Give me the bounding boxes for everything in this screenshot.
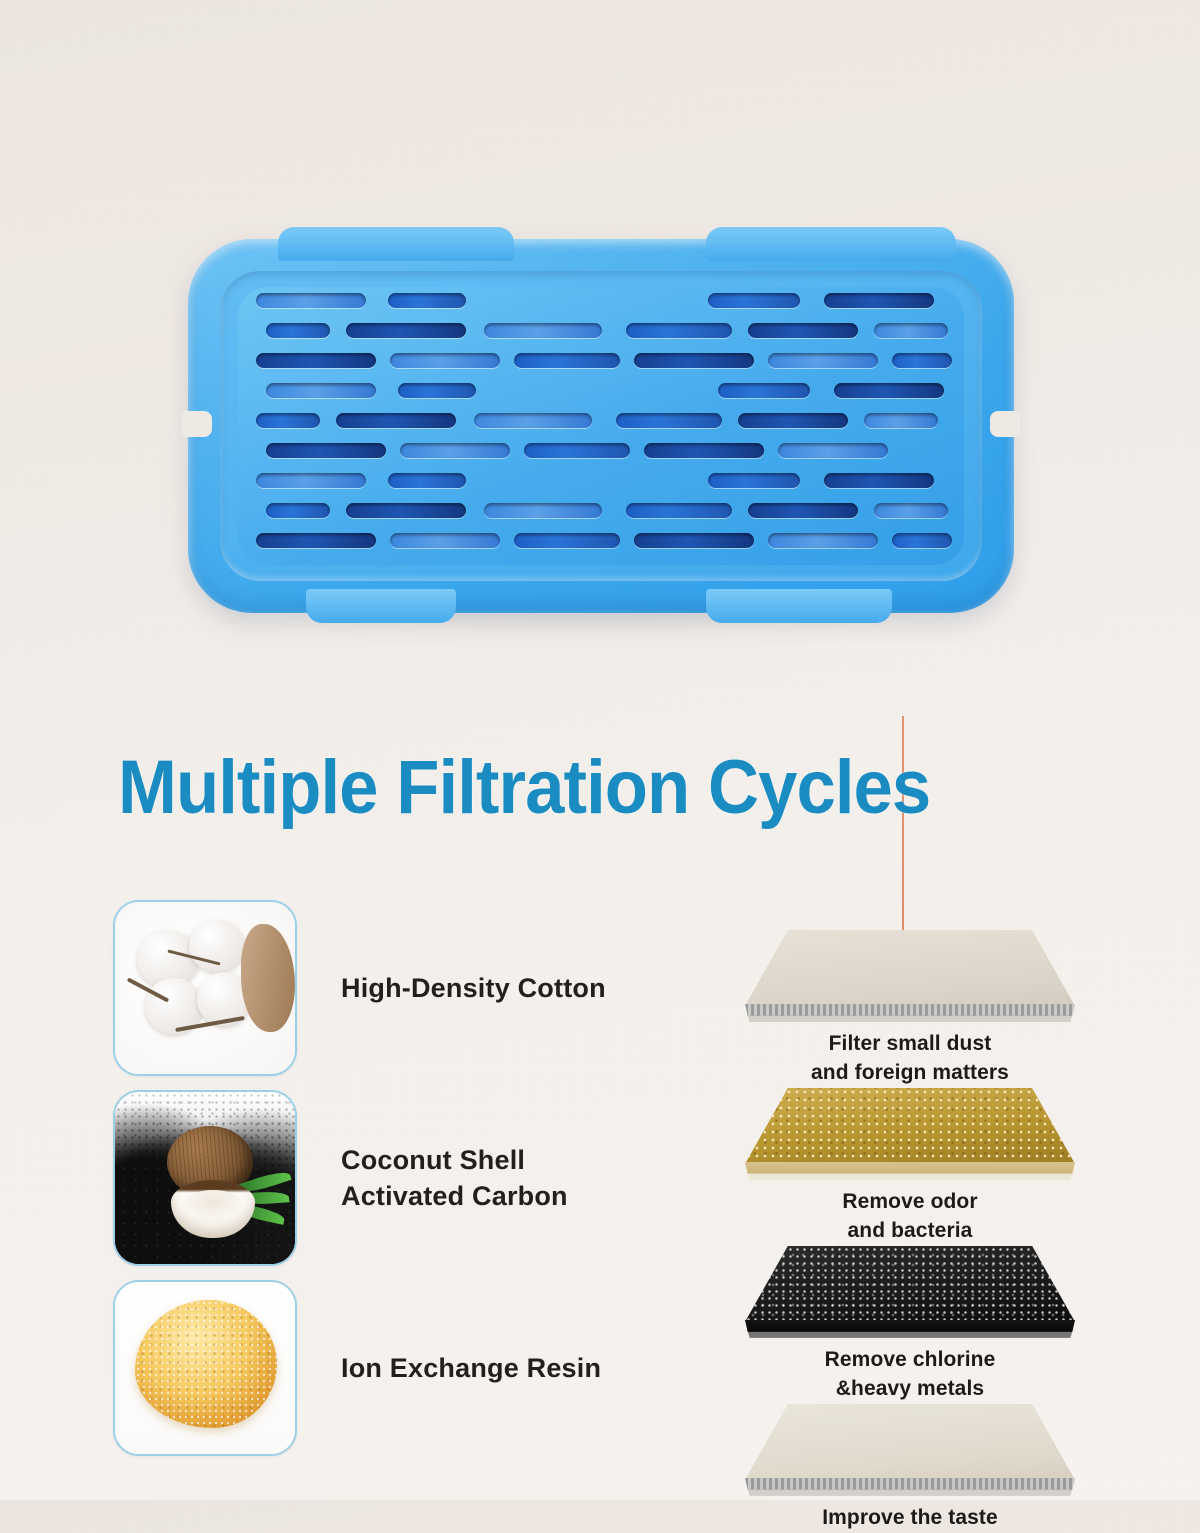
layer-caption-line2: and foreign matters [700, 1059, 1120, 1088]
cartridge-slot [514, 353, 620, 368]
layer-slab-taste [745, 1404, 1075, 1496]
cartridge-slot [474, 413, 592, 428]
layer-slab-cap [745, 1015, 1075, 1022]
layer-slab-edge [745, 1478, 1075, 1490]
cartridge-slot [824, 293, 934, 308]
cartridge-slot [484, 503, 602, 518]
cartridge-slot [768, 533, 878, 548]
layer-slab-resin [745, 1088, 1075, 1180]
layer-caption-line2: and bacteria [700, 1217, 1120, 1246]
activated-carbon-photo [115, 1092, 295, 1264]
cartridge-slot [708, 473, 800, 488]
cartridge-slot [524, 443, 630, 458]
cartridge-slot [892, 353, 952, 368]
cartridge-slot [256, 533, 376, 548]
cartridge-slot [390, 533, 500, 548]
layer-block-cotton: Filter small dust and foreign matters [700, 930, 1120, 1088]
layer-slab-carbon [745, 1246, 1075, 1338]
product-image-filter-cartridge [186, 225, 1016, 635]
material-row-cotton: High-Density Cotton [113, 898, 673, 1078]
cartridge-slot [256, 413, 320, 428]
cartridge-notch-right [990, 411, 1020, 437]
cartridge-slot [266, 383, 376, 398]
cartridge-bottom-tab-right [706, 589, 892, 623]
cartridge-slot [388, 473, 466, 488]
cartridge-slot [266, 443, 386, 458]
cartridge-slot [834, 383, 944, 398]
cartridge-slot [708, 293, 800, 308]
page-title: Multiple Filtration Cycles [118, 744, 955, 831]
layer-caption-line1: Improve the taste [700, 1504, 1120, 1533]
cartridge-slot [824, 473, 934, 488]
cartridge-slot [718, 383, 810, 398]
material-row-carbon: Coconut Shell Activated Carbon [113, 1088, 673, 1268]
cartridge-slot [256, 473, 366, 488]
layer-slab-edge [745, 1320, 1075, 1332]
cartridge-slot [346, 503, 466, 518]
cartridge-top-tab-right [706, 227, 956, 261]
cartridge-slot [626, 323, 732, 338]
cartridge-slot [738, 413, 848, 428]
material-label-carbon-line1: Coconut Shell [341, 1142, 568, 1178]
layer-slab-cotton [745, 930, 1075, 1022]
cotton-photo [115, 902, 295, 1074]
cartridge-slot [256, 293, 366, 308]
layer-caption-cotton: Filter small dust and foreign matters [700, 1030, 1120, 1088]
layer-caption-taste: Improve the taste [700, 1504, 1120, 1533]
cartridge-bottom-tab-left [306, 589, 456, 623]
layer-slab-top [745, 1404, 1075, 1480]
cartridge-slot [644, 443, 764, 458]
layer-slab-edge [745, 1004, 1075, 1016]
coconut-flesh-icon [183, 1190, 243, 1220]
cartridge-top-tab-left [278, 227, 514, 261]
cartridge-slot [256, 353, 376, 368]
resin-bead-texture [135, 1300, 277, 1428]
layer-slab-edge [745, 1162, 1075, 1174]
layer-slab-top [745, 1246, 1075, 1322]
cartridge-slot [266, 503, 330, 518]
cotton-husk-icon [241, 924, 295, 1032]
thumbnail-coconut-carbon [113, 1090, 297, 1266]
cartridge-slot [626, 503, 732, 518]
cartridge-slot [398, 383, 476, 398]
cartridge-slot [874, 503, 948, 518]
cartridge-slot [390, 353, 500, 368]
layer-block-taste: Improve the taste [700, 1404, 1120, 1533]
thumbnail-cotton [113, 900, 297, 1076]
ion-exchange-resin-photo [115, 1282, 295, 1454]
layer-caption-line1: Filter small dust [700, 1030, 1120, 1059]
thumbnail-ion-resin [113, 1280, 297, 1456]
cartridge-slot [514, 533, 620, 548]
cartridge-slot [768, 353, 878, 368]
cartridge-slot [634, 353, 754, 368]
cartridge-slot [634, 533, 754, 548]
layer-block-carbon: Remove chlorine &heavy metals [700, 1246, 1120, 1404]
cartridge-notch-left [182, 411, 212, 437]
layer-caption-resin: Remove odor and bacteria [700, 1188, 1120, 1246]
material-label-resin: Ion Exchange Resin [341, 1350, 601, 1386]
cartridge-slot [864, 413, 938, 428]
material-label-carbon: Coconut Shell Activated Carbon [341, 1142, 568, 1215]
cartridge-slot [266, 323, 330, 338]
infographic-canvas: Multiple Filtration Cycles High-Density … [0, 0, 1200, 1500]
layer-caption-line1: Remove odor [700, 1188, 1120, 1217]
cartridge-slot [778, 443, 888, 458]
layer-slab-cap [745, 1489, 1075, 1496]
layer-slab-cap [745, 1173, 1075, 1180]
layer-slab-top [745, 1088, 1075, 1164]
material-row-resin: Ion Exchange Resin [113, 1278, 673, 1458]
filtration-layer-stack: Filter small dust and foreign matters Re… [700, 930, 1120, 1533]
cartridge-slot [748, 323, 858, 338]
material-label-carbon-line2: Activated Carbon [341, 1178, 568, 1214]
cartridge-slot [346, 323, 466, 338]
cartridge-slot [388, 293, 466, 308]
cartridge-slot [336, 413, 456, 428]
layer-caption-line2: &heavy metals [700, 1375, 1120, 1404]
cartridge-slot [748, 503, 858, 518]
cartridge-slot [892, 533, 952, 548]
cartridge-slot-grid [238, 287, 964, 565]
resin-bead-pile-icon [135, 1300, 277, 1428]
layer-slab-cap [745, 1331, 1075, 1338]
cartridge-slot [616, 413, 722, 428]
layer-slab-top [745, 930, 1075, 1006]
filter-cartridge [186, 225, 1016, 625]
material-label-cotton: High-Density Cotton [341, 970, 606, 1006]
layer-caption-line1: Remove chlorine [700, 1346, 1120, 1375]
layer-block-resin: Remove odor and bacteria [700, 1088, 1120, 1246]
cartridge-slot [400, 443, 510, 458]
cartridge-slot [484, 323, 602, 338]
cartridge-slot [874, 323, 948, 338]
layer-caption-carbon: Remove chlorine &heavy metals [700, 1346, 1120, 1404]
